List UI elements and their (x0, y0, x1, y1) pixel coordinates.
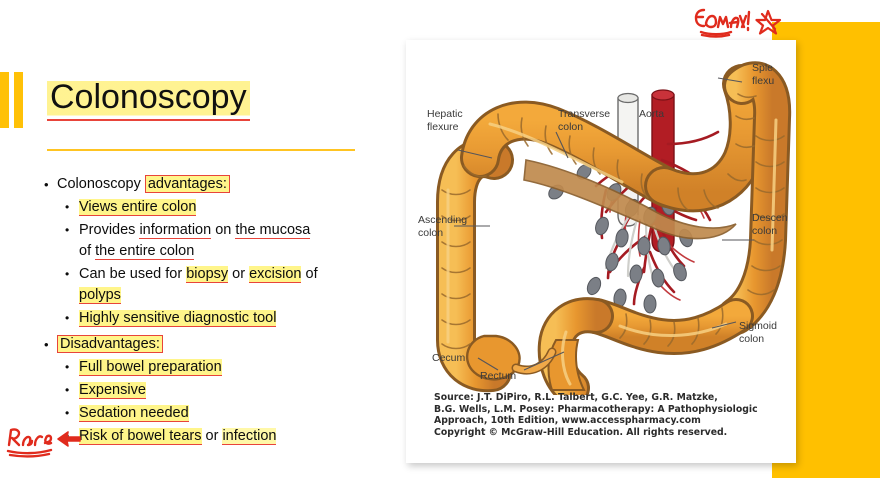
bullet-text-underlined: the entire colon (95, 243, 194, 260)
title-accent-tick-1 (0, 72, 9, 128)
list-item: • Colonoscopy advantages: (44, 174, 374, 195)
slide-canvas: Colonoscopy • Colonoscopy advantages: • … (0, 0, 880, 496)
bullet-text-highlighted: Risk of bowel tears (79, 428, 202, 445)
list-item: • Risk of bowel tears or infection (65, 426, 374, 447)
list-item-label: Risk of bowel tears or infection (79, 426, 374, 447)
label-transverse-colon: Transverse colon (558, 108, 610, 133)
label-hepatic-flexure: Hepatic flexure (427, 108, 463, 133)
anatomy-figure-panel: Hepatic flexure Ascending colon Transver… (406, 40, 796, 463)
bullet-text-boxed: Disadvantages: (57, 335, 163, 353)
exam-annotation (690, 4, 758, 38)
bullet-text-highlighted: excision (249, 266, 301, 283)
list-item: • Disadvantages: (44, 334, 374, 355)
title-divider (47, 149, 355, 151)
label-rectum: Rectum (480, 370, 516, 383)
bullet-text-plain: Colonoscopy (57, 176, 145, 192)
list-item: • Provides information on the mucosaof t… (65, 220, 374, 262)
bullet-dot: • (65, 403, 79, 419)
bullet-text-highlighted: Highly sensitive diagnostic tool (79, 310, 276, 327)
label-ascending-colon: Ascending colon (418, 214, 467, 239)
label-sigmoid-colon: Sigmoid colon (739, 320, 777, 345)
bullet-text-plain: Provides (79, 222, 139, 238)
bullet-text-highlighted: Views entire colon (79, 199, 196, 216)
bullet-text-highlighted: polyps (79, 287, 121, 304)
list-item-label: Full bowel preparation (79, 357, 374, 378)
list-item-label: Disadvantages: (57, 334, 374, 355)
bullet-text-highlighted: infection (222, 428, 276, 445)
bullet-text-plain: on (211, 222, 235, 238)
label-splenic-flexure: Sple flexu (752, 62, 774, 87)
bullet-text-highlighted: biopsy (186, 266, 228, 283)
list-item-label: Highly sensitive diagnostic tool (79, 308, 374, 329)
list-item: • Full bowel preparation (65, 357, 374, 378)
title-accent-tick-2 (14, 72, 23, 128)
bullet-list: • Colonoscopy advantages: • Views entire… (44, 174, 374, 449)
caption-line-2: B.G. Wells, L.M. Posey: Pharmacotherapy:… (434, 404, 774, 416)
bullet-dot: • (65, 380, 79, 396)
label-cecum: Cecum (432, 352, 465, 365)
page-title: Colonoscopy (47, 75, 250, 121)
bullet-text-highlighted: Full bowel preparation (79, 359, 222, 376)
bullet-text-plain: of (301, 266, 317, 282)
label-aorta: Aorta (639, 108, 664, 121)
figure-source-caption: Source: J.T. DiPiro, R.L. Talbert, G.C. … (434, 392, 774, 438)
bullet-dot: • (65, 357, 79, 373)
bullet-text-underlined: information (139, 222, 211, 239)
list-item-label: Provides information on the mucosaof the… (79, 220, 374, 262)
bullet-dot: • (44, 334, 57, 351)
list-item-label: Colonoscopy advantages: (57, 174, 374, 195)
bullet-text-highlighted: Expensive (79, 382, 146, 399)
bullet-text-highlighted: Sedation needed (79, 405, 189, 422)
caption-line-1: Source: J.T. DiPiro, R.L. Talbert, G.C. … (434, 392, 774, 404)
list-item: • Sedation needed (65, 403, 374, 424)
list-item-label: Views entire colon (79, 197, 374, 218)
bullet-dot: • (65, 308, 79, 324)
list-item: • Views entire colon (65, 197, 374, 218)
bullet-dot: • (65, 220, 79, 236)
bullet-dot: • (65, 197, 79, 213)
bullet-text-underlined: the mucosa (235, 222, 310, 239)
list-item: • Can be used for biopsy or excision ofp… (65, 264, 374, 306)
page-title-text: Colonoscopy (47, 75, 250, 121)
bullet-text-boxed: advantages: (145, 175, 230, 193)
list-item-label: Expensive (79, 380, 374, 401)
bullet-text-plain: Can be used for (79, 266, 186, 282)
list-item: • Expensive (65, 380, 374, 401)
label-descending-colon: Descen colon (752, 212, 788, 237)
bullet-text-plain: or (228, 266, 249, 282)
bullet-text-plain: of (79, 243, 95, 259)
bullet-text-plain: or (202, 428, 223, 444)
bullet-dot: • (65, 426, 79, 442)
bullet-dot: • (44, 174, 57, 191)
bullet-dot: • (65, 264, 79, 280)
list-item-label: Sedation needed (79, 403, 374, 424)
caption-line-3: Approach, 10th Edition, www.accesspharma… (434, 415, 774, 427)
caption-line-4: Copyright © McGraw-Hill Education. All r… (434, 427, 774, 439)
list-item-label: Can be used for biopsy or excision ofpol… (79, 264, 374, 306)
list-item: • Highly sensitive diagnostic tool (65, 308, 374, 329)
